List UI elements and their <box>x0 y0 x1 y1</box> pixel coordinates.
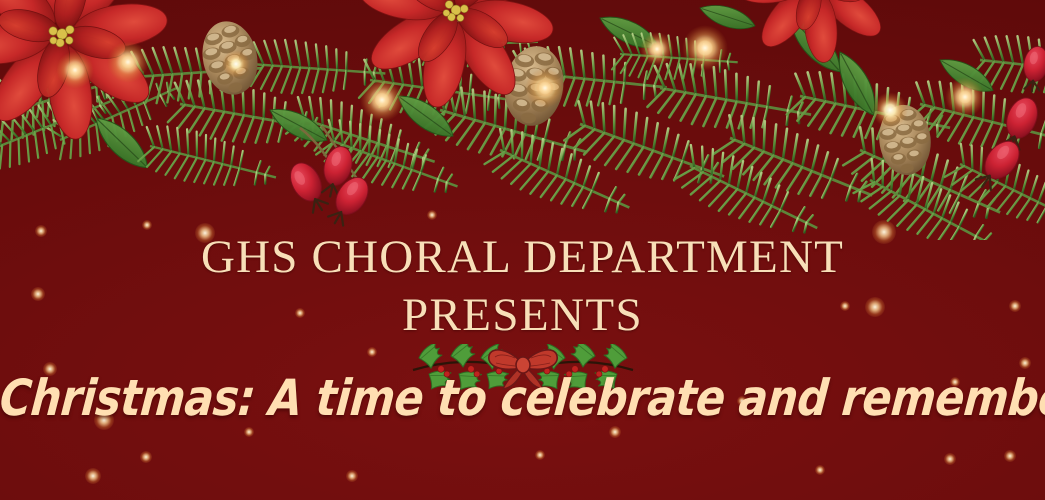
sparkle-dot <box>367 347 377 357</box>
sparkle-dot <box>244 427 254 437</box>
sparkle-dot <box>536 79 554 97</box>
headline-block: GHS CHORAL DEPARTMENT PRESENTS <box>0 228 1045 345</box>
sparkle-dot <box>346 470 358 482</box>
christmas-pine-garland <box>0 0 1045 240</box>
christmas-concert-banner: GHS CHORAL DEPARTMENT PRESENTS <box>0 0 1045 500</box>
tagline-block: Christmas: A time to celebrate and remem… <box>0 378 1045 421</box>
sparkle-dot <box>815 465 825 475</box>
sparkle-dot <box>1019 357 1031 369</box>
pine-branch-layer-back <box>0 32 1045 240</box>
headline-line-2: PRESENTS <box>0 286 1045 344</box>
pine-branch-layer-front <box>0 19 1008 240</box>
headline-line-1: GHS CHORAL DEPARTMENT <box>0 228 1045 286</box>
poinsettia-group <box>0 0 905 154</box>
sparkle-dot <box>650 42 664 56</box>
sparkle-dot <box>944 453 956 465</box>
sparkle-dot <box>372 90 392 110</box>
sparkle-dot <box>427 210 437 220</box>
sparkle-dot <box>1004 450 1016 462</box>
sparkle-dot <box>140 451 152 463</box>
sparkle-dot <box>956 88 974 106</box>
sparkle-dot <box>67 62 83 78</box>
holly-leaf-layer <box>88 0 998 176</box>
string-light-group <box>56 25 985 128</box>
pinecone-group <box>196 16 934 177</box>
rose-hip-group <box>284 45 1045 231</box>
sparkle-dot <box>119 53 137 71</box>
sparkle-dot <box>85 468 101 484</box>
sparkle-dot <box>535 450 545 460</box>
sparkle-dot <box>694 37 716 59</box>
tagline-text: Christmas: A time to celebrate and remem… <box>0 375 1045 425</box>
